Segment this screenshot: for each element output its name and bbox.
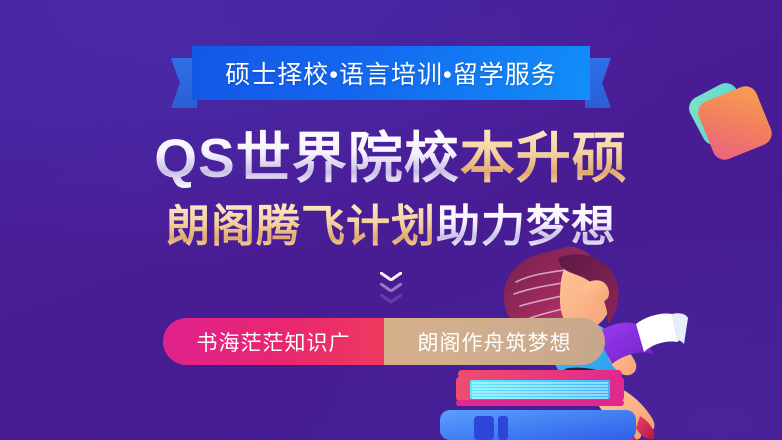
headline-line-1: QS世界院校本升硕: [0, 128, 782, 188]
ribbon-text: 硕士择校•语言培训•留学服务: [225, 55, 557, 91]
headline-line-1-silver: QS世界院校: [154, 127, 459, 189]
slogan-left-text: 书海茫茫知识广: [197, 327, 351, 357]
book-stack-bottom: [440, 410, 636, 440]
chevron-down-icon: [380, 272, 402, 281]
chevron-down-icon: [380, 294, 402, 303]
slogan-pill-right: 朗阁作舟筑梦想: [384, 318, 605, 365]
slogan-pill-left: 书海茫茫知识广: [163, 318, 384, 365]
headline-line-1-gold: 本升硕: [460, 127, 628, 189]
promo-banner: 硕士择校•语言培训•留学服务 QS世界院校本升硕 朗阁腾飞计划助力梦想: [0, 0, 782, 440]
slogan-right-text: 朗阁作舟筑梦想: [418, 327, 572, 357]
slogan-pill: 书海茫茫知识广 朗阁作舟筑梦想: [163, 318, 605, 365]
book-stack-top: [456, 370, 624, 406]
headline-line-2-gold: 朗阁腾飞计划: [166, 202, 436, 251]
chevron-down-icon: [380, 283, 402, 292]
ribbon-body: 硕士择校•语言培训•留学服务: [192, 46, 590, 100]
ribbon: 硕士择校•语言培训•留学服务: [171, 46, 611, 108]
